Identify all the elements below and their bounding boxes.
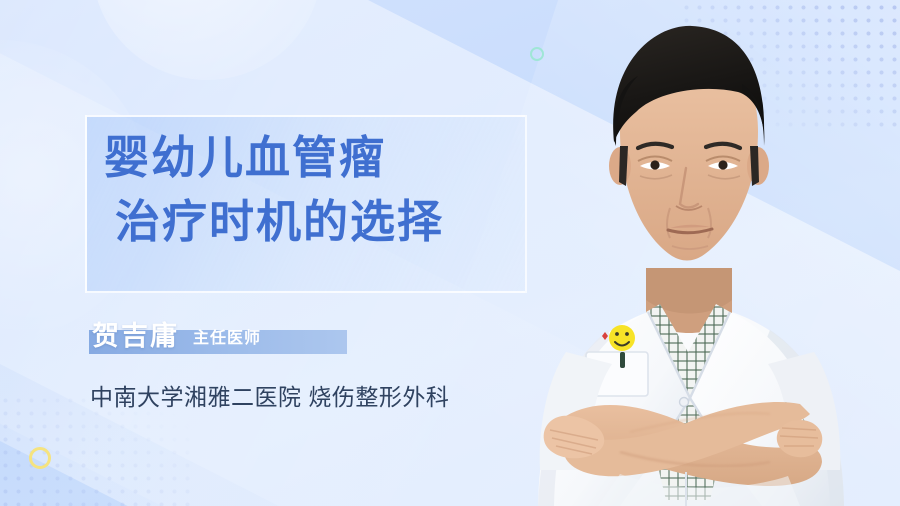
video-cover-poster: 婴幼儿血管瘤 治疗时机的选择 贺吉庸 主任医师 中南大学湘雅二医院 烧伤整形外科 [0, 0, 900, 506]
page-title: 婴幼儿血管瘤 治疗时机的选择 [104, 126, 534, 254]
title-line-2: 治疗时机的选择 [104, 190, 534, 254]
doctor-name: 贺吉庸 [92, 314, 179, 353]
yellow-ring-icon [29, 447, 51, 469]
doctor-name-row: 贺吉庸 主任医师 [92, 314, 261, 353]
doctor-info-block: 贺吉庸 主任医师 中南大学湘雅二医院 烧伤整形外科 [89, 330, 509, 354]
doctor-rank: 主任医师 [193, 324, 261, 348]
doctor-portrait [470, 0, 900, 506]
doctor-affiliation: 中南大学湘雅二医院 烧伤整形外科 [90, 378, 449, 412]
doctor-name-bar: 贺吉庸 主任医师 [89, 330, 347, 354]
title-line-1: 婴幼儿血管瘤 [104, 126, 534, 190]
